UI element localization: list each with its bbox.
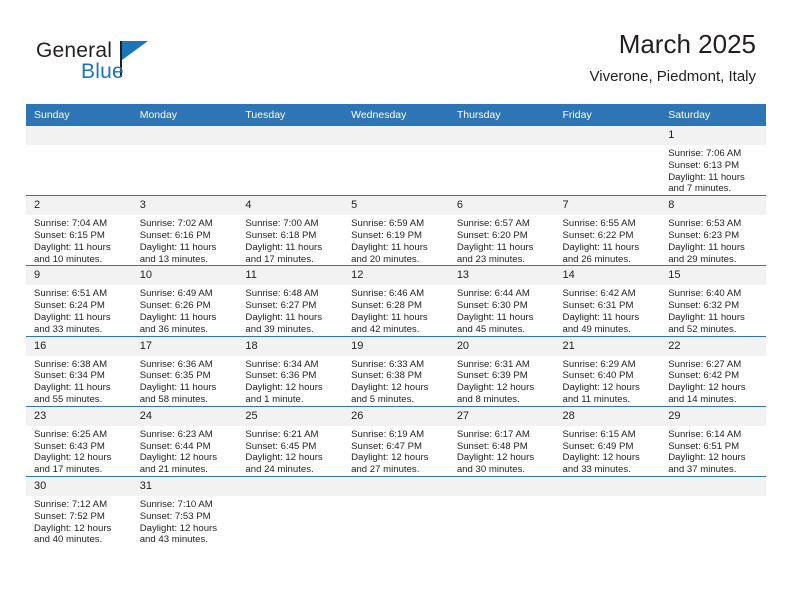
daylight-text-line2: and 10 minutes. [34, 254, 128, 266]
calendar-day-cell[interactable]: 20Sunrise: 6:31 AMSunset: 6:39 PMDayligh… [449, 336, 555, 406]
sunset-text: Sunset: 6:47 PM [351, 441, 445, 453]
daylight-text-line1: Daylight: 11 hours [34, 312, 128, 324]
day-details: Sunrise: 6:44 AMSunset: 6:30 PMDaylight:… [449, 285, 555, 335]
daylight-text-line2: and 33 minutes. [563, 464, 657, 476]
day-number [343, 126, 449, 145]
day-number [555, 126, 661, 145]
calendar-day-cell[interactable]: 16Sunrise: 6:38 AMSunset: 6:34 PMDayligh… [26, 336, 132, 406]
daylight-text-line1: Daylight: 11 hours [563, 312, 657, 324]
day-number: 1 [660, 126, 766, 145]
day-details: Sunrise: 6:19 AMSunset: 6:47 PMDaylight:… [343, 426, 449, 476]
sunset-text: Sunset: 6:16 PM [140, 230, 234, 242]
daylight-text-line2: and 14 minutes. [668, 394, 762, 406]
sunset-text: Sunset: 6:18 PM [245, 230, 339, 242]
sunrise-text: Sunrise: 6:23 AM [140, 429, 234, 441]
daylight-text-line2: and 30 minutes. [457, 464, 551, 476]
calendar-week-row: 16Sunrise: 6:38 AMSunset: 6:34 PMDayligh… [26, 336, 766, 406]
sunset-text: Sunset: 6:48 PM [457, 441, 551, 453]
day-number [343, 477, 449, 496]
day-number: 11 [237, 266, 343, 285]
sunrise-text: Sunrise: 6:15 AM [563, 429, 657, 441]
calendar-day-cell[interactable]: 25Sunrise: 6:21 AMSunset: 6:45 PMDayligh… [237, 406, 343, 476]
day-number: 29 [660, 407, 766, 426]
daylight-text-line2: and 33 minutes. [34, 324, 128, 336]
daylight-text-line1: Daylight: 11 hours [245, 312, 339, 324]
sunset-text: Sunset: 6:24 PM [34, 300, 128, 312]
calendar-day-cell[interactable]: 18Sunrise: 6:34 AMSunset: 6:36 PMDayligh… [237, 336, 343, 406]
daylight-text-line1: Daylight: 11 hours [457, 242, 551, 254]
daylight-text-line1: Daylight: 12 hours [351, 452, 445, 464]
logo-text-general: General [36, 40, 112, 61]
day-details: Sunrise: 6:48 AMSunset: 6:27 PMDaylight:… [237, 285, 343, 335]
calendar-day-cell-empty [555, 476, 661, 546]
daylight-text-line1: Daylight: 11 hours [563, 242, 657, 254]
day-details: Sunrise: 6:42 AMSunset: 6:31 PMDaylight:… [555, 285, 661, 335]
page-header: General Blue March 2025 Viverone, Piedmo… [0, 0, 792, 104]
day-number: 12 [343, 266, 449, 285]
weekday-header-sunday: Sunday [26, 104, 132, 126]
daylight-text-line2: and 43 minutes. [140, 534, 234, 546]
day-details: Sunrise: 6:46 AMSunset: 6:28 PMDaylight:… [343, 285, 449, 335]
day-number: 7 [555, 196, 661, 215]
day-details: Sunrise: 6:36 AMSunset: 6:35 PMDaylight:… [132, 356, 238, 406]
calendar-day-cell[interactable]: 28Sunrise: 6:15 AMSunset: 6:49 PMDayligh… [555, 406, 661, 476]
sunset-text: Sunset: 6:15 PM [34, 230, 128, 242]
daylight-text-line2: and 7 minutes. [668, 183, 762, 195]
daylight-text-line2: and 13 minutes. [140, 254, 234, 266]
day-details: Sunrise: 6:23 AMSunset: 6:44 PMDaylight:… [132, 426, 238, 476]
day-number: 26 [343, 407, 449, 426]
day-number: 28 [555, 407, 661, 426]
day-number: 3 [132, 196, 238, 215]
sunset-text: Sunset: 6:40 PM [563, 370, 657, 382]
calendar-day-cell-empty [132, 126, 238, 196]
daylight-text-line2: and 52 minutes. [668, 324, 762, 336]
calendar-day-cell[interactable]: 17Sunrise: 6:36 AMSunset: 6:35 PMDayligh… [132, 336, 238, 406]
day-details: Sunrise: 6:29 AMSunset: 6:40 PMDaylight:… [555, 356, 661, 406]
sunrise-text: Sunrise: 6:40 AM [668, 288, 762, 300]
daylight-text-line1: Daylight: 11 hours [351, 312, 445, 324]
calendar-day-cell-empty [449, 476, 555, 546]
sunrise-text: Sunrise: 6:17 AM [457, 429, 551, 441]
daylight-text-line2: and 42 minutes. [351, 324, 445, 336]
sunset-text: Sunset: 6:32 PM [668, 300, 762, 312]
daylight-text-line1: Daylight: 12 hours [457, 382, 551, 394]
calendar-day-cell[interactable]: 23Sunrise: 6:25 AMSunset: 6:43 PMDayligh… [26, 406, 132, 476]
sunrise-text: Sunrise: 6:59 AM [351, 218, 445, 230]
daylight-text-line2: and 29 minutes. [668, 254, 762, 266]
daylight-text-line2: and 26 minutes. [563, 254, 657, 266]
day-details: Sunrise: 6:31 AMSunset: 6:39 PMDaylight:… [449, 356, 555, 406]
day-number: 31 [132, 477, 238, 496]
sunrise-text: Sunrise: 6:48 AM [245, 288, 339, 300]
daylight-text-line1: Daylight: 12 hours [457, 452, 551, 464]
calendar-day-cell[interactable]: 12Sunrise: 6:46 AMSunset: 6:28 PMDayligh… [343, 266, 449, 336]
daylight-text-line2: and 5 minutes. [351, 394, 445, 406]
day-number [237, 477, 343, 496]
calendar-page: General Blue March 2025 Viverone, Piedmo… [0, 0, 792, 612]
day-number [555, 477, 661, 496]
calendar-day-cell-empty [237, 126, 343, 196]
sunrise-text: Sunrise: 6:25 AM [34, 429, 128, 441]
sunset-text: Sunset: 6:23 PM [668, 230, 762, 242]
calendar-day-cell[interactable]: 2Sunrise: 7:04 AMSunset: 6:15 PMDaylight… [26, 196, 132, 266]
calendar-day-cell-empty [555, 126, 661, 196]
day-number: 30 [26, 477, 132, 496]
sunset-text: Sunset: 6:42 PM [668, 370, 762, 382]
day-number: 9 [26, 266, 132, 285]
daylight-text-line1: Daylight: 11 hours [668, 242, 762, 254]
calendar-day-cell[interactable]: 30Sunrise: 7:12 AMSunset: 7:52 PMDayligh… [26, 476, 132, 546]
sunset-text: Sunset: 7:52 PM [34, 511, 128, 523]
day-number [132, 126, 238, 145]
sunset-text: Sunset: 6:22 PM [563, 230, 657, 242]
calendar-day-cell[interactable]: 13Sunrise: 6:44 AMSunset: 6:30 PMDayligh… [449, 266, 555, 336]
day-details: Sunrise: 6:21 AMSunset: 6:45 PMDaylight:… [237, 426, 343, 476]
sunrise-text: Sunrise: 6:51 AM [34, 288, 128, 300]
calendar-body: 1Sunrise: 7:06 AMSunset: 6:13 PMDaylight… [26, 126, 766, 546]
calendar-day-cell[interactable]: 19Sunrise: 6:33 AMSunset: 6:38 PMDayligh… [343, 336, 449, 406]
sunrise-text: Sunrise: 6:31 AM [457, 359, 551, 371]
daylight-text-line1: Daylight: 11 hours [140, 242, 234, 254]
calendar-day-cell-empty [343, 476, 449, 546]
day-number [449, 477, 555, 496]
daylight-text-line1: Daylight: 11 hours [351, 242, 445, 254]
sunrise-text: Sunrise: 6:29 AM [563, 359, 657, 371]
calendar-day-cell[interactable]: 29Sunrise: 6:14 AMSunset: 6:51 PMDayligh… [660, 406, 766, 476]
day-number: 10 [132, 266, 238, 285]
calendar-day-cell[interactable]: 15Sunrise: 6:40 AMSunset: 6:32 PMDayligh… [660, 266, 766, 336]
calendar-day-cell-empty [449, 126, 555, 196]
calendar-day-cell[interactable]: 14Sunrise: 6:42 AMSunset: 6:31 PMDayligh… [555, 266, 661, 336]
weekday-header-thursday: Thursday [449, 104, 555, 126]
sunrise-text: Sunrise: 6:42 AM [563, 288, 657, 300]
day-details: Sunrise: 6:34 AMSunset: 6:36 PMDaylight:… [237, 356, 343, 406]
daylight-text-line2: and 55 minutes. [34, 394, 128, 406]
sunset-text: Sunset: 6:45 PM [245, 441, 339, 453]
day-number: 18 [237, 337, 343, 356]
daylight-text-line1: Daylight: 11 hours [140, 312, 234, 324]
daylight-text-line1: Daylight: 12 hours [140, 523, 234, 535]
sunset-text: Sunset: 6:51 PM [668, 441, 762, 453]
daylight-text-line2: and 21 minutes. [140, 464, 234, 476]
weekday-header-wednesday: Wednesday [343, 104, 449, 126]
day-number: 4 [237, 196, 343, 215]
sunrise-text: Sunrise: 7:10 AM [140, 499, 234, 511]
day-number [237, 126, 343, 145]
daylight-text-line2: and 17 minutes. [34, 464, 128, 476]
calendar-day-cell[interactable]: 7Sunrise: 6:55 AMSunset: 6:22 PMDaylight… [555, 196, 661, 266]
day-number [660, 477, 766, 496]
sunset-text: Sunset: 6:49 PM [563, 441, 657, 453]
day-number: 27 [449, 407, 555, 426]
calendar-week-row: 30Sunrise: 7:12 AMSunset: 7:52 PMDayligh… [26, 476, 766, 546]
sunset-text: Sunset: 6:27 PM [245, 300, 339, 312]
daylight-text-line1: Daylight: 12 hours [245, 452, 339, 464]
sunset-text: Sunset: 7:53 PM [140, 511, 234, 523]
daylight-text-line2: and 37 minutes. [668, 464, 762, 476]
weekday-header-saturday: Saturday [660, 104, 766, 126]
calendar-day-cell[interactable]: 21Sunrise: 6:29 AMSunset: 6:40 PMDayligh… [555, 336, 661, 406]
sunrise-sunset-calendar: Sunday Monday Tuesday Wednesday Thursday… [26, 104, 766, 546]
daylight-text-line1: Daylight: 12 hours [351, 382, 445, 394]
sunrise-text: Sunrise: 6:19 AM [351, 429, 445, 441]
daylight-text-line2: and 27 minutes. [351, 464, 445, 476]
sunrise-text: Sunrise: 6:55 AM [563, 218, 657, 230]
daylight-text-line2: and 58 minutes. [140, 394, 234, 406]
daylight-text-line1: Daylight: 12 hours [245, 382, 339, 394]
daylight-text-line1: Daylight: 11 hours [668, 312, 762, 324]
day-details: Sunrise: 6:57 AMSunset: 6:20 PMDaylight:… [449, 215, 555, 265]
day-details: Sunrise: 6:33 AMSunset: 6:38 PMDaylight:… [343, 356, 449, 406]
sunrise-text: Sunrise: 6:34 AM [245, 359, 339, 371]
daylight-text-line2: and 24 minutes. [245, 464, 339, 476]
weekday-header-monday: Monday [132, 104, 238, 126]
daylight-text-line1: Daylight: 12 hours [34, 452, 128, 464]
sunset-text: Sunset: 6:20 PM [457, 230, 551, 242]
sunset-text: Sunset: 6:31 PM [563, 300, 657, 312]
sunrise-text: Sunrise: 6:27 AM [668, 359, 762, 371]
day-number: 21 [555, 337, 661, 356]
sunset-text: Sunset: 6:36 PM [245, 370, 339, 382]
daylight-text-line2: and 20 minutes. [351, 254, 445, 266]
weekday-header-friday: Friday [555, 104, 661, 126]
sunrise-text: Sunrise: 7:04 AM [34, 218, 128, 230]
day-number: 25 [237, 407, 343, 426]
calendar-day-cell-empty [343, 126, 449, 196]
daylight-text-line1: Daylight: 12 hours [668, 382, 762, 394]
day-number: 20 [449, 337, 555, 356]
calendar-day-cell[interactable]: 27Sunrise: 6:17 AMSunset: 6:48 PMDayligh… [449, 406, 555, 476]
page-subtitle: Viverone, Piedmont, Italy [590, 68, 756, 85]
day-details: Sunrise: 6:51 AMSunset: 6:24 PMDaylight:… [26, 285, 132, 335]
day-number: 22 [660, 337, 766, 356]
logo-text-blue: Blue [81, 61, 124, 82]
calendar-day-cell[interactable]: 31Sunrise: 7:10 AMSunset: 7:53 PMDayligh… [132, 476, 238, 546]
day-details: Sunrise: 7:12 AMSunset: 7:52 PMDaylight:… [26, 496, 132, 546]
day-number: 17 [132, 337, 238, 356]
sunset-text: Sunset: 6:19 PM [351, 230, 445, 242]
sunrise-text: Sunrise: 6:44 AM [457, 288, 551, 300]
sunset-text: Sunset: 6:44 PM [140, 441, 234, 453]
daylight-text-line2: and 17 minutes. [245, 254, 339, 266]
daylight-text-line1: Daylight: 12 hours [563, 452, 657, 464]
sunrise-text: Sunrise: 6:14 AM [668, 429, 762, 441]
day-details: Sunrise: 6:59 AMSunset: 6:19 PMDaylight:… [343, 215, 449, 265]
calendar-header-row: Sunday Monday Tuesday Wednesday Thursday… [26, 104, 766, 126]
day-number: 24 [132, 407, 238, 426]
calendar-day-cell[interactable]: 1Sunrise: 7:06 AMSunset: 6:13 PMDaylight… [660, 126, 766, 196]
calendar-day-cell[interactable]: 4Sunrise: 7:00 AMSunset: 6:18 PMDaylight… [237, 196, 343, 266]
general-blue-logo[interactable]: General Blue [36, 40, 186, 88]
calendar-week-row: 2Sunrise: 7:04 AMSunset: 6:15 PMDaylight… [26, 196, 766, 266]
daylight-text-line2: and 49 minutes. [563, 324, 657, 336]
day-number [26, 126, 132, 145]
day-number: 6 [449, 196, 555, 215]
daylight-text-line1: Daylight: 11 hours [140, 382, 234, 394]
calendar-day-cell-empty [660, 476, 766, 546]
calendar-day-cell[interactable]: 11Sunrise: 6:48 AMSunset: 6:27 PMDayligh… [237, 266, 343, 336]
calendar-day-cell[interactable]: 6Sunrise: 6:57 AMSunset: 6:20 PMDaylight… [449, 196, 555, 266]
sunrise-text: Sunrise: 7:00 AM [245, 218, 339, 230]
daylight-text-line2: and 39 minutes. [245, 324, 339, 336]
sunrise-text: Sunrise: 6:38 AM [34, 359, 128, 371]
daylight-text-line1: Daylight: 11 hours [668, 172, 762, 184]
day-number [449, 126, 555, 145]
title-block: March 2025 Viverone, Piedmont, Italy [590, 30, 756, 85]
day-details: Sunrise: 6:15 AMSunset: 6:49 PMDaylight:… [555, 426, 661, 476]
day-number: 8 [660, 196, 766, 215]
calendar-day-cell[interactable]: 5Sunrise: 6:59 AMSunset: 6:19 PMDaylight… [343, 196, 449, 266]
calendar-day-cell[interactable]: 22Sunrise: 6:27 AMSunset: 6:42 PMDayligh… [660, 336, 766, 406]
day-details: Sunrise: 6:38 AMSunset: 6:34 PMDaylight:… [26, 356, 132, 406]
day-details: Sunrise: 6:49 AMSunset: 6:26 PMDaylight:… [132, 285, 238, 335]
sunset-text: Sunset: 6:26 PM [140, 300, 234, 312]
sunset-text: Sunset: 6:39 PM [457, 370, 551, 382]
day-number: 15 [660, 266, 766, 285]
calendar-week-row: 23Sunrise: 6:25 AMSunset: 6:43 PMDayligh… [26, 406, 766, 476]
sunrise-text: Sunrise: 6:57 AM [457, 218, 551, 230]
sunrise-text: Sunrise: 6:33 AM [351, 359, 445, 371]
sunrise-text: Sunrise: 6:21 AM [245, 429, 339, 441]
daylight-text-line1: Daylight: 11 hours [245, 242, 339, 254]
sunset-text: Sunset: 6:30 PM [457, 300, 551, 312]
day-number: 13 [449, 266, 555, 285]
daylight-text-line2: and 8 minutes. [457, 394, 551, 406]
calendar-day-cell[interactable]: 24Sunrise: 6:23 AMSunset: 6:44 PMDayligh… [132, 406, 238, 476]
day-number: 19 [343, 337, 449, 356]
day-details: Sunrise: 7:10 AMSunset: 7:53 PMDaylight:… [132, 496, 238, 546]
day-details: Sunrise: 6:53 AMSunset: 6:23 PMDaylight:… [660, 215, 766, 265]
sunrise-text: Sunrise: 7:12 AM [34, 499, 128, 511]
sunrise-text: Sunrise: 6:53 AM [668, 218, 762, 230]
sunrise-text: Sunrise: 6:46 AM [351, 288, 445, 300]
calendar-week-row: 1Sunrise: 7:06 AMSunset: 6:13 PMDaylight… [26, 126, 766, 196]
daylight-text-line1: Daylight: 12 hours [140, 452, 234, 464]
day-number: 2 [26, 196, 132, 215]
daylight-text-line2: and 11 minutes. [563, 394, 657, 406]
day-details: Sunrise: 6:25 AMSunset: 6:43 PMDaylight:… [26, 426, 132, 476]
sunrise-text: Sunrise: 7:02 AM [140, 218, 234, 230]
daylight-text-line1: Daylight: 12 hours [34, 523, 128, 535]
day-details: Sunrise: 6:17 AMSunset: 6:48 PMDaylight:… [449, 426, 555, 476]
logo-triangle-icon [122, 41, 148, 60]
daylight-text-line1: Daylight: 12 hours [668, 452, 762, 464]
sunrise-text: Sunrise: 7:06 AM [668, 148, 762, 160]
daylight-text-line1: Daylight: 11 hours [457, 312, 551, 324]
day-details: Sunrise: 7:04 AMSunset: 6:15 PMDaylight:… [26, 215, 132, 265]
day-number: 23 [26, 407, 132, 426]
sunset-text: Sunset: 6:38 PM [351, 370, 445, 382]
sunset-text: Sunset: 6:43 PM [34, 441, 128, 453]
calendar-day-cell-empty [26, 126, 132, 196]
calendar-day-cell-empty [237, 476, 343, 546]
day-number: 14 [555, 266, 661, 285]
day-details: Sunrise: 7:06 AMSunset: 6:13 PMDaylight:… [660, 145, 766, 195]
sunrise-text: Sunrise: 6:36 AM [140, 359, 234, 371]
day-details: Sunrise: 7:00 AMSunset: 6:18 PMDaylight:… [237, 215, 343, 265]
calendar-week-row: 9Sunrise: 6:51 AMSunset: 6:24 PMDaylight… [26, 266, 766, 336]
day-details: Sunrise: 6:40 AMSunset: 6:32 PMDaylight:… [660, 285, 766, 335]
daylight-text-line2: and 40 minutes. [34, 534, 128, 546]
daylight-text-line1: Daylight: 12 hours [563, 382, 657, 394]
day-details: Sunrise: 7:02 AMSunset: 6:16 PMDaylight:… [132, 215, 238, 265]
weekday-header-tuesday: Tuesday [237, 104, 343, 126]
daylight-text-line2: and 45 minutes. [457, 324, 551, 336]
calendar-day-cell[interactable]: 8Sunrise: 6:53 AMSunset: 6:23 PMDaylight… [660, 196, 766, 266]
daylight-text-line2: and 23 minutes. [457, 254, 551, 266]
day-number: 16 [26, 337, 132, 356]
sunset-text: Sunset: 6:28 PM [351, 300, 445, 312]
calendar-day-cell[interactable]: 10Sunrise: 6:49 AMSunset: 6:26 PMDayligh… [132, 266, 238, 336]
page-title: March 2025 [590, 30, 756, 60]
sunrise-text: Sunrise: 6:49 AM [140, 288, 234, 300]
day-details: Sunrise: 6:14 AMSunset: 6:51 PMDaylight:… [660, 426, 766, 476]
daylight-text-line2: and 1 minute. [245, 394, 339, 406]
daylight-text-line1: Daylight: 11 hours [34, 242, 128, 254]
sunset-text: Sunset: 6:13 PM [668, 160, 762, 172]
sunset-text: Sunset: 6:34 PM [34, 370, 128, 382]
daylight-text-line1: Daylight: 11 hours [34, 382, 128, 394]
day-details: Sunrise: 6:55 AMSunset: 6:22 PMDaylight:… [555, 215, 661, 265]
calendar-day-cell[interactable]: 9Sunrise: 6:51 AMSunset: 6:24 PMDaylight… [26, 266, 132, 336]
day-details: Sunrise: 6:27 AMSunset: 6:42 PMDaylight:… [660, 356, 766, 406]
calendar-day-cell[interactable]: 3Sunrise: 7:02 AMSunset: 6:16 PMDaylight… [132, 196, 238, 266]
daylight-text-line2: and 36 minutes. [140, 324, 234, 336]
calendar-day-cell[interactable]: 26Sunrise: 6:19 AMSunset: 6:47 PMDayligh… [343, 406, 449, 476]
sunset-text: Sunset: 6:35 PM [140, 370, 234, 382]
day-number: 5 [343, 196, 449, 215]
